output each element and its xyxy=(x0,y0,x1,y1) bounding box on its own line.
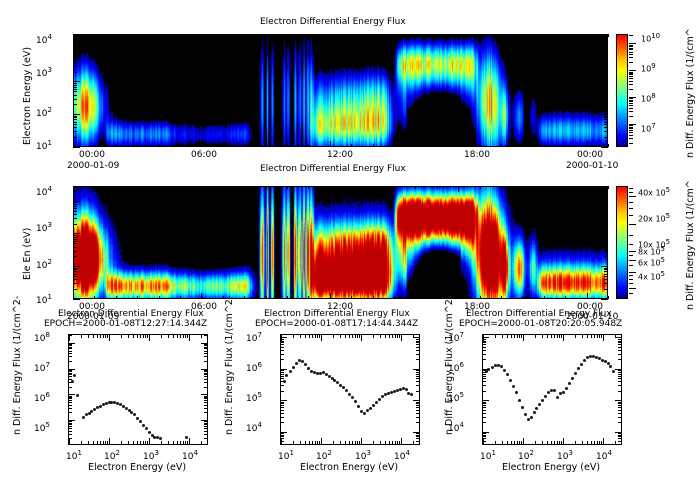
axis-tick xyxy=(287,34,288,37)
axis-tick xyxy=(281,344,284,345)
axis-tick xyxy=(180,144,181,147)
data-point xyxy=(369,407,372,410)
axis-tick xyxy=(93,335,94,338)
axis-tick xyxy=(416,378,419,379)
axis-tick xyxy=(416,433,419,434)
axis-tick xyxy=(547,441,548,444)
axis-tick xyxy=(140,441,141,444)
spectrum-right-ytick-3: 104 xyxy=(448,421,464,434)
spectrogram-middle-ytick-2: 102 xyxy=(36,258,52,271)
axis-tick xyxy=(618,433,621,434)
axis-tick xyxy=(97,335,98,338)
axis-minor-tick xyxy=(73,87,77,88)
axis-tick xyxy=(618,374,621,375)
axis-tick xyxy=(73,34,74,40)
axis-tick xyxy=(201,335,202,338)
axis-tick xyxy=(352,335,353,338)
axis-tick xyxy=(281,438,284,439)
colorbar-tick xyxy=(629,127,633,128)
spectrogram-middle-title: Electron Differential Energy Flux xyxy=(260,164,406,174)
spectrum-left-xtick-0: 101 xyxy=(66,449,82,462)
data-point xyxy=(405,388,408,391)
axis-tick xyxy=(168,441,169,444)
axis-tick xyxy=(94,186,95,189)
axis-tick xyxy=(483,436,486,437)
data-point xyxy=(142,424,145,427)
axis-tick xyxy=(223,34,224,37)
axis-tick xyxy=(204,370,207,371)
axis-tick xyxy=(88,335,89,338)
colorbar-tick xyxy=(629,52,633,53)
colorbar-tick xyxy=(629,260,636,261)
axis-tick xyxy=(69,400,72,401)
axis-minor-tick xyxy=(604,95,608,96)
colorbar-tick xyxy=(629,70,636,71)
axis-tick xyxy=(281,417,284,418)
axis-tick xyxy=(587,186,588,192)
axis-minor-tick xyxy=(73,56,77,57)
spectrogram-middle-panel: Electron Differential Energy Flux Ele En… xyxy=(0,160,697,310)
axis-tick xyxy=(145,441,146,444)
axis-tick xyxy=(204,382,207,383)
axis-tick xyxy=(161,335,162,338)
spectrum-right-plot xyxy=(482,334,622,445)
axis-tick xyxy=(105,441,106,444)
axis-tick xyxy=(128,441,129,444)
colorbar-tick xyxy=(629,215,633,216)
data-point xyxy=(506,373,509,376)
data-point xyxy=(148,431,151,434)
axis-tick xyxy=(547,335,548,338)
axis-tick xyxy=(204,434,207,435)
axis-tick xyxy=(133,335,134,338)
colorbar-tick xyxy=(629,48,633,49)
axis-tick xyxy=(373,144,374,147)
colorbar-tick xyxy=(629,73,633,74)
axis-minor-tick xyxy=(604,122,608,123)
axis-tick xyxy=(180,34,181,37)
axis-tick xyxy=(319,335,320,338)
spectrum-left-ytick-1: 107 xyxy=(34,361,50,374)
axis-tick xyxy=(437,186,438,189)
axis-tick xyxy=(522,186,523,189)
axis-tick xyxy=(281,378,284,379)
axis-tick xyxy=(69,431,72,432)
axis-tick xyxy=(618,402,621,403)
axis-tick xyxy=(618,350,621,351)
axis-tick xyxy=(293,335,294,338)
axis-tick xyxy=(544,144,545,147)
axis-tick xyxy=(514,441,515,444)
axis-minor-tick xyxy=(604,237,608,238)
data-point xyxy=(357,405,360,408)
axis-tick xyxy=(281,354,284,355)
axis-tick xyxy=(149,438,150,444)
axis-minor-tick xyxy=(73,99,77,100)
data-point xyxy=(530,416,533,419)
axis-tick xyxy=(603,335,604,341)
axis-tick xyxy=(73,293,74,299)
spectrum-middle-epoch: EPOCH=2000-01-08T17:14:44.344Z xyxy=(255,319,418,329)
spectrogram-top-ytick-2: 102 xyxy=(36,106,52,119)
data-point xyxy=(568,382,571,385)
data-point xyxy=(185,436,188,439)
axis-tick xyxy=(618,407,621,408)
axis-minor-tick xyxy=(73,274,77,275)
axis-tick xyxy=(480,186,481,189)
axis-tick xyxy=(401,438,402,444)
axis-tick xyxy=(204,361,207,362)
axis-tick xyxy=(416,407,419,408)
axis-tick xyxy=(69,356,72,357)
axis-tick xyxy=(554,441,555,444)
axis-tick xyxy=(177,441,178,444)
axis-tick xyxy=(116,296,117,299)
axis-tick xyxy=(618,441,621,442)
axis-tick xyxy=(287,144,288,147)
axis-tick xyxy=(69,351,72,352)
spectrum-middle-xtick-3: 104 xyxy=(394,449,410,462)
axis-tick xyxy=(416,342,419,343)
axis-minor-tick xyxy=(604,206,608,207)
axis-tick xyxy=(173,441,174,444)
axis-tick xyxy=(458,293,459,299)
axis-tick xyxy=(133,441,134,444)
data-point xyxy=(375,401,378,404)
colorbar-tick xyxy=(629,202,633,203)
data-point xyxy=(577,367,580,370)
spectrum-middle-xtick-2: 103 xyxy=(355,449,371,462)
axis-tick xyxy=(281,432,287,433)
axis-minor-tick xyxy=(73,243,77,244)
axis-tick xyxy=(601,201,608,202)
axis-tick xyxy=(559,441,560,444)
data-point xyxy=(292,366,295,369)
data-point xyxy=(512,385,515,388)
axis-tick xyxy=(287,296,288,299)
axis-tick xyxy=(204,348,207,349)
colorbar-tick xyxy=(629,293,633,294)
axis-tick xyxy=(204,402,207,403)
axis-tick xyxy=(177,335,178,338)
axis-tick xyxy=(458,34,459,40)
axis-tick xyxy=(69,348,72,349)
axis-tick xyxy=(483,400,489,401)
axis-tick xyxy=(397,441,398,444)
axis-tick xyxy=(281,342,284,343)
axis-minor-tick xyxy=(604,104,608,105)
spectrogram-top-xtick-1: 06:00 xyxy=(191,150,217,160)
axis-minor-tick xyxy=(73,269,77,270)
axis-tick xyxy=(201,420,207,421)
axis-tick xyxy=(587,141,588,147)
axis-tick xyxy=(223,296,224,299)
axis-tick xyxy=(121,335,122,338)
axis-tick xyxy=(483,378,486,379)
axis-tick xyxy=(204,426,207,427)
axis-tick xyxy=(413,400,419,401)
spectrum-right-epoch: EPOCH=2000-01-08T20:20:05.948Z xyxy=(459,319,622,329)
axis-tick xyxy=(437,144,438,147)
axis-tick xyxy=(204,376,207,377)
data-point xyxy=(541,399,544,402)
axis-tick xyxy=(189,438,190,444)
axis-minor-tick xyxy=(73,204,77,205)
spectrum-middle-xtick-1: 102 xyxy=(316,449,332,462)
axis-tick xyxy=(180,296,181,299)
axis-tick xyxy=(81,441,82,444)
spectrogram-top-ytick-1: 101 xyxy=(36,139,52,152)
axis-tick xyxy=(416,347,419,348)
spectrum-right-xtick-3: 104 xyxy=(596,449,612,462)
spectrogram-top-colorbar xyxy=(616,34,628,147)
axis-tick xyxy=(143,441,144,444)
axis-tick xyxy=(140,335,141,338)
axis-tick xyxy=(351,186,352,189)
axis-tick xyxy=(149,335,150,341)
data-point xyxy=(553,389,556,392)
axis-tick xyxy=(201,141,202,147)
axis-tick xyxy=(333,441,334,444)
axis-tick xyxy=(305,441,306,444)
axis-tick xyxy=(330,34,331,40)
colorbar-tick xyxy=(629,111,633,112)
spectrogram-middle-cbar-tick-5: 4x 105 xyxy=(638,270,665,282)
axis-minor-tick xyxy=(604,119,608,120)
axis-tick xyxy=(161,441,162,444)
axis-tick xyxy=(107,335,108,338)
axis-tick xyxy=(597,441,598,444)
axis-tick xyxy=(204,353,207,354)
colorbar-tick xyxy=(629,244,633,245)
axis-tick xyxy=(69,371,72,372)
axis-tick xyxy=(551,441,552,444)
colorbar-tick xyxy=(629,101,633,102)
axis-minor-tick xyxy=(73,104,77,105)
axis-tick xyxy=(501,34,502,37)
data-point xyxy=(159,437,162,440)
axis-tick xyxy=(416,372,419,373)
axis-tick xyxy=(137,144,138,147)
axis-tick xyxy=(618,417,621,418)
axis-tick xyxy=(281,370,284,371)
axis-tick xyxy=(204,408,207,409)
colorbar-tick xyxy=(629,78,633,79)
axis-minor-tick xyxy=(604,271,608,272)
axis-tick xyxy=(281,400,287,401)
axis-tick xyxy=(517,335,518,338)
colorbar-tick xyxy=(629,279,633,280)
axis-tick xyxy=(608,34,609,37)
axis-tick xyxy=(483,407,486,408)
colorbar-tick xyxy=(629,103,633,104)
axis-tick xyxy=(69,412,72,413)
axis-minor-tick xyxy=(604,116,608,117)
axis-tick xyxy=(601,49,608,50)
axis-tick xyxy=(483,347,486,348)
axis-tick xyxy=(204,347,207,348)
colorbar-tick xyxy=(629,188,633,189)
axis-tick xyxy=(416,444,419,445)
axis-tick xyxy=(281,436,284,437)
axis-minor-tick xyxy=(604,131,608,132)
colorbar-tick xyxy=(629,54,633,55)
axis-tick xyxy=(94,144,95,147)
axis-minor-tick xyxy=(604,50,608,51)
axis-tick xyxy=(599,441,600,444)
data-point xyxy=(363,412,366,415)
axis-tick xyxy=(281,381,284,382)
spectrum-left-epoch: EPOCH=2000-01-08T12:27:14.344Z xyxy=(44,319,207,329)
axis-tick xyxy=(69,408,72,409)
axis-tick xyxy=(69,344,72,345)
axis-tick xyxy=(100,335,101,338)
data-point xyxy=(518,399,521,402)
axis-tick xyxy=(355,441,356,444)
axis-tick xyxy=(399,335,400,338)
data-point xyxy=(538,403,541,406)
colorbar-tick xyxy=(629,196,636,197)
axis-tick xyxy=(244,34,245,37)
axis-minor-tick xyxy=(73,224,77,225)
spectrogram-middle-cbar-tick-0: 40x 105 xyxy=(638,186,670,198)
axis-tick xyxy=(330,141,331,147)
axis-minor-tick xyxy=(73,276,77,277)
axis-tick xyxy=(597,335,598,338)
axis-tick xyxy=(594,441,595,444)
axis-minor-tick xyxy=(73,95,77,96)
axis-minor-tick xyxy=(604,59,608,60)
axis-tick xyxy=(413,337,419,338)
axis-tick xyxy=(587,34,588,40)
axis-tick xyxy=(601,335,602,338)
colorbar-tick xyxy=(629,105,633,106)
axis-tick xyxy=(143,335,144,338)
axis-tick xyxy=(73,114,80,115)
axis-tick xyxy=(416,441,419,442)
data-point xyxy=(565,387,568,390)
axis-tick xyxy=(309,335,310,338)
axis-tick xyxy=(204,397,207,398)
axis-minor-tick xyxy=(604,85,608,86)
colorbar-tick xyxy=(629,108,633,109)
axis-tick xyxy=(561,441,562,444)
axis-tick xyxy=(591,441,592,444)
colorbar-tick xyxy=(629,235,633,236)
axis-tick xyxy=(180,186,181,189)
axis-minor-tick xyxy=(73,214,77,215)
axis-tick xyxy=(281,337,287,338)
axis-tick xyxy=(69,420,75,421)
axis-tick xyxy=(385,441,386,444)
axis-minor-tick xyxy=(73,89,77,90)
axis-tick xyxy=(544,296,545,299)
axis-tick xyxy=(88,441,89,444)
axis-tick xyxy=(483,410,486,411)
spectrum-left-ytick-2: 106 xyxy=(34,391,50,404)
axis-tick xyxy=(69,438,72,439)
axis-minor-tick xyxy=(604,62,608,63)
axis-minor-tick xyxy=(73,52,77,53)
spectrogram-top-cbar-tick-1: 109 xyxy=(641,62,656,74)
data-point xyxy=(524,413,527,416)
axis-tick xyxy=(305,335,306,338)
axis-tick xyxy=(416,405,419,406)
axis-tick xyxy=(281,369,287,370)
axis-tick xyxy=(523,335,524,341)
axis-tick xyxy=(287,186,288,189)
axis-minor-tick xyxy=(604,239,608,240)
data-point xyxy=(535,407,538,410)
axis-tick xyxy=(519,441,520,444)
axis-tick xyxy=(281,433,284,434)
axis-tick xyxy=(582,335,583,338)
axis-tick xyxy=(359,441,360,444)
data-point xyxy=(521,406,524,409)
axis-tick xyxy=(416,417,419,418)
colorbar-tick xyxy=(629,143,633,144)
axis-tick xyxy=(312,441,313,444)
axis-tick xyxy=(281,374,284,375)
axis-minor-tick xyxy=(73,247,77,248)
axis-tick xyxy=(351,34,352,37)
spectrogram-top-ytick-3: 103 xyxy=(36,66,52,79)
axis-tick xyxy=(73,266,80,267)
axis-minor-tick xyxy=(604,87,608,88)
axis-tick xyxy=(565,144,566,147)
axis-tick xyxy=(458,186,459,192)
spectrum-left-title: Electron Differential Energy Flux xyxy=(58,309,204,319)
data-point xyxy=(574,372,577,375)
axis-minor-tick xyxy=(604,269,608,270)
axis-tick xyxy=(204,423,207,424)
colorbar-tick xyxy=(629,132,633,133)
axis-tick xyxy=(483,417,486,418)
axis-tick xyxy=(204,412,207,413)
axis-tick xyxy=(159,144,160,147)
colorbar-tick xyxy=(629,76,633,77)
axis-minor-tick xyxy=(73,122,77,123)
spectrogram-middle-colorbar xyxy=(616,186,628,299)
axis-tick xyxy=(601,147,608,148)
axis-minor-tick xyxy=(604,89,608,90)
axis-tick xyxy=(483,337,489,338)
axis-tick xyxy=(69,369,75,370)
axis-tick xyxy=(523,438,524,444)
axis-tick xyxy=(413,441,414,444)
axis-minor-tick xyxy=(604,99,608,100)
axis-tick xyxy=(495,441,496,444)
colorbar-tick xyxy=(629,130,633,131)
spectrogram-top-xtick-2: 12:00 xyxy=(327,150,353,160)
axis-tick xyxy=(502,441,503,444)
axis-tick xyxy=(147,335,148,338)
axis-tick xyxy=(501,144,502,147)
axis-tick xyxy=(618,378,621,379)
axis-tick xyxy=(380,441,381,444)
axis-tick xyxy=(618,354,621,355)
axis-tick xyxy=(416,438,419,439)
axis-tick xyxy=(351,296,352,299)
axis-tick xyxy=(416,370,419,371)
axis-tick xyxy=(483,350,486,351)
axis-tick xyxy=(187,335,188,338)
axis-tick xyxy=(483,381,486,382)
axis-tick xyxy=(415,144,416,147)
axis-tick xyxy=(415,186,416,189)
axis-tick xyxy=(69,426,72,427)
axis-tick xyxy=(349,441,350,444)
